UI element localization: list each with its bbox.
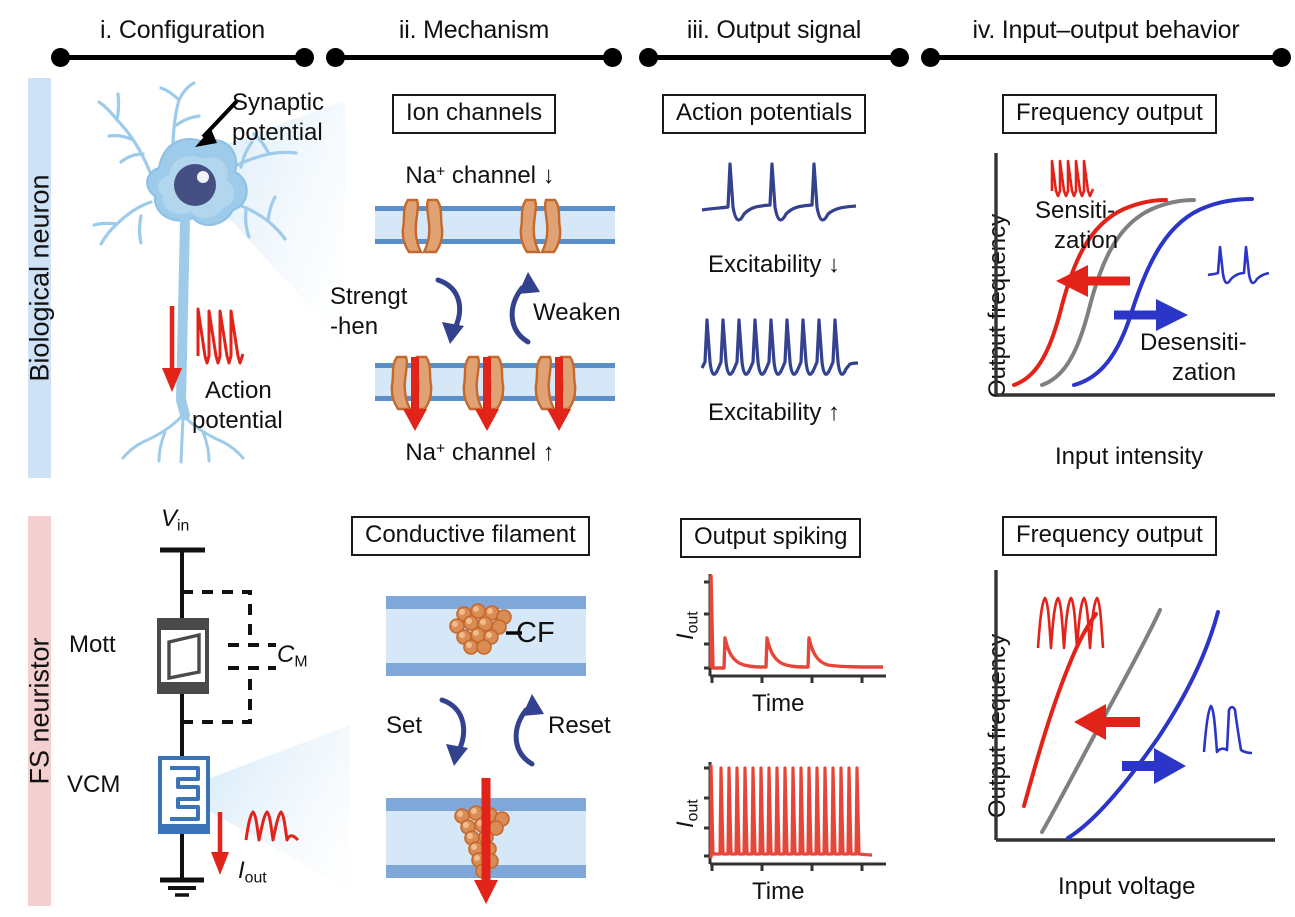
filament-dissolved [386, 596, 586, 684]
output-spiking-plot-high [700, 758, 890, 873]
neuristor-frequency-output-box-label: Frequency output [1002, 516, 1217, 556]
excitability-up-caption: Excitability ↑ [648, 400, 900, 427]
row-band-biological-neuron: Biological neuron [28, 78, 51, 478]
strengthen-label-line1: Strengt [330, 284, 407, 311]
vcm-label: VCM [67, 772, 120, 799]
excitability-down-caption: Excitability ↓ [648, 252, 900, 279]
action-potentials-box-label: Action potentials [662, 94, 866, 134]
rule-dot-left [639, 48, 658, 67]
column-title-io-behavior: iv. Input–output behavior [930, 16, 1282, 45]
row-band-fs-neuristor: FS neuristor [28, 516, 51, 906]
rule-dot-right [295, 48, 314, 67]
desensitization-label-line1: Desensiti- [1140, 330, 1247, 357]
fs-neuristor-circuit [60, 490, 350, 910]
weaken-arrow [498, 268, 570, 348]
column-rule-io-behavior [930, 55, 1282, 60]
sensitization-label-line1: Sensiti- [1035, 198, 1115, 225]
ion-channels-box-label: Ion channels [392, 94, 556, 134]
rule-dot-right [603, 48, 622, 67]
row-label-biological-neuron: Biological neuron [24, 174, 55, 381]
na-channel-up-label: Na+ channel ↑ [375, 440, 585, 467]
neuristor-io-plot [990, 570, 1280, 860]
neuristor-io-xlabel: Input voltage [1058, 873, 1195, 901]
synaptic-potential-label-line2: potential [232, 120, 323, 147]
bio-io-plot [990, 153, 1280, 433]
column-rule-mechanism [335, 55, 613, 60]
rule-dot-left [51, 48, 70, 67]
output-spiking-plot-low [700, 570, 890, 685]
action-potential-trace-high [700, 312, 860, 387]
output-spiking-box-label: Output spiking [680, 518, 861, 558]
iout-axis-label-bottom: Iout [673, 799, 702, 828]
rule-dot-left [921, 48, 940, 67]
membrane-many-channels [375, 355, 615, 435]
mott-label: Mott [69, 632, 116, 659]
bio-io-xlabel: Input intensity [1055, 443, 1203, 471]
set-arrow [434, 694, 502, 774]
rule-dot-left [326, 48, 345, 67]
action-potential-trace-low [700, 158, 860, 233]
synaptic-potential-arrow [185, 95, 245, 155]
conductive-filament-box-label: Conductive filament [351, 516, 590, 556]
membrane-few-channels [375, 198, 615, 258]
na-channel-down-label: Na+ channel ↓ [375, 163, 585, 190]
filament-formed [386, 776, 586, 908]
column-title-output-signal: iii. Output signal [648, 16, 900, 45]
sensitization-label-line2: zation [1054, 228, 1118, 255]
cf-label: CF [516, 617, 555, 649]
synaptic-potential-label-line1: Synaptic [232, 90, 324, 117]
row-label-fs-neuristor: FS neuristor [24, 637, 55, 784]
column-title-mechanism: ii. Mechanism [335, 16, 613, 45]
rule-dot-right [1272, 48, 1291, 67]
bio-frequency-output-box-label: Frequency output [1002, 94, 1217, 134]
set-label: Set [386, 713, 422, 740]
desensitization-label-line2: zation [1172, 360, 1236, 387]
strengthen-label-line2: -hen [330, 314, 378, 341]
iout-axis-label-top: Iout [673, 611, 702, 640]
rule-dot-right [890, 48, 909, 67]
reset-arrow [502, 690, 570, 770]
strengthen-arrow [428, 272, 500, 352]
action-potential-label-line2: potential [192, 408, 283, 435]
cm-capacitance-label: CM [277, 642, 308, 671]
column-title-configuration: i. Configuration [60, 16, 305, 45]
output-spiking-xlabel-top: Time [752, 690, 804, 718]
output-spiking-xlabel-bottom: Time [752, 878, 804, 906]
column-rule-configuration [60, 55, 305, 60]
action-potential-label-line1: Action [205, 378, 272, 405]
column-rule-output-signal [648, 55, 900, 60]
iout-label: Iout [238, 858, 267, 887]
